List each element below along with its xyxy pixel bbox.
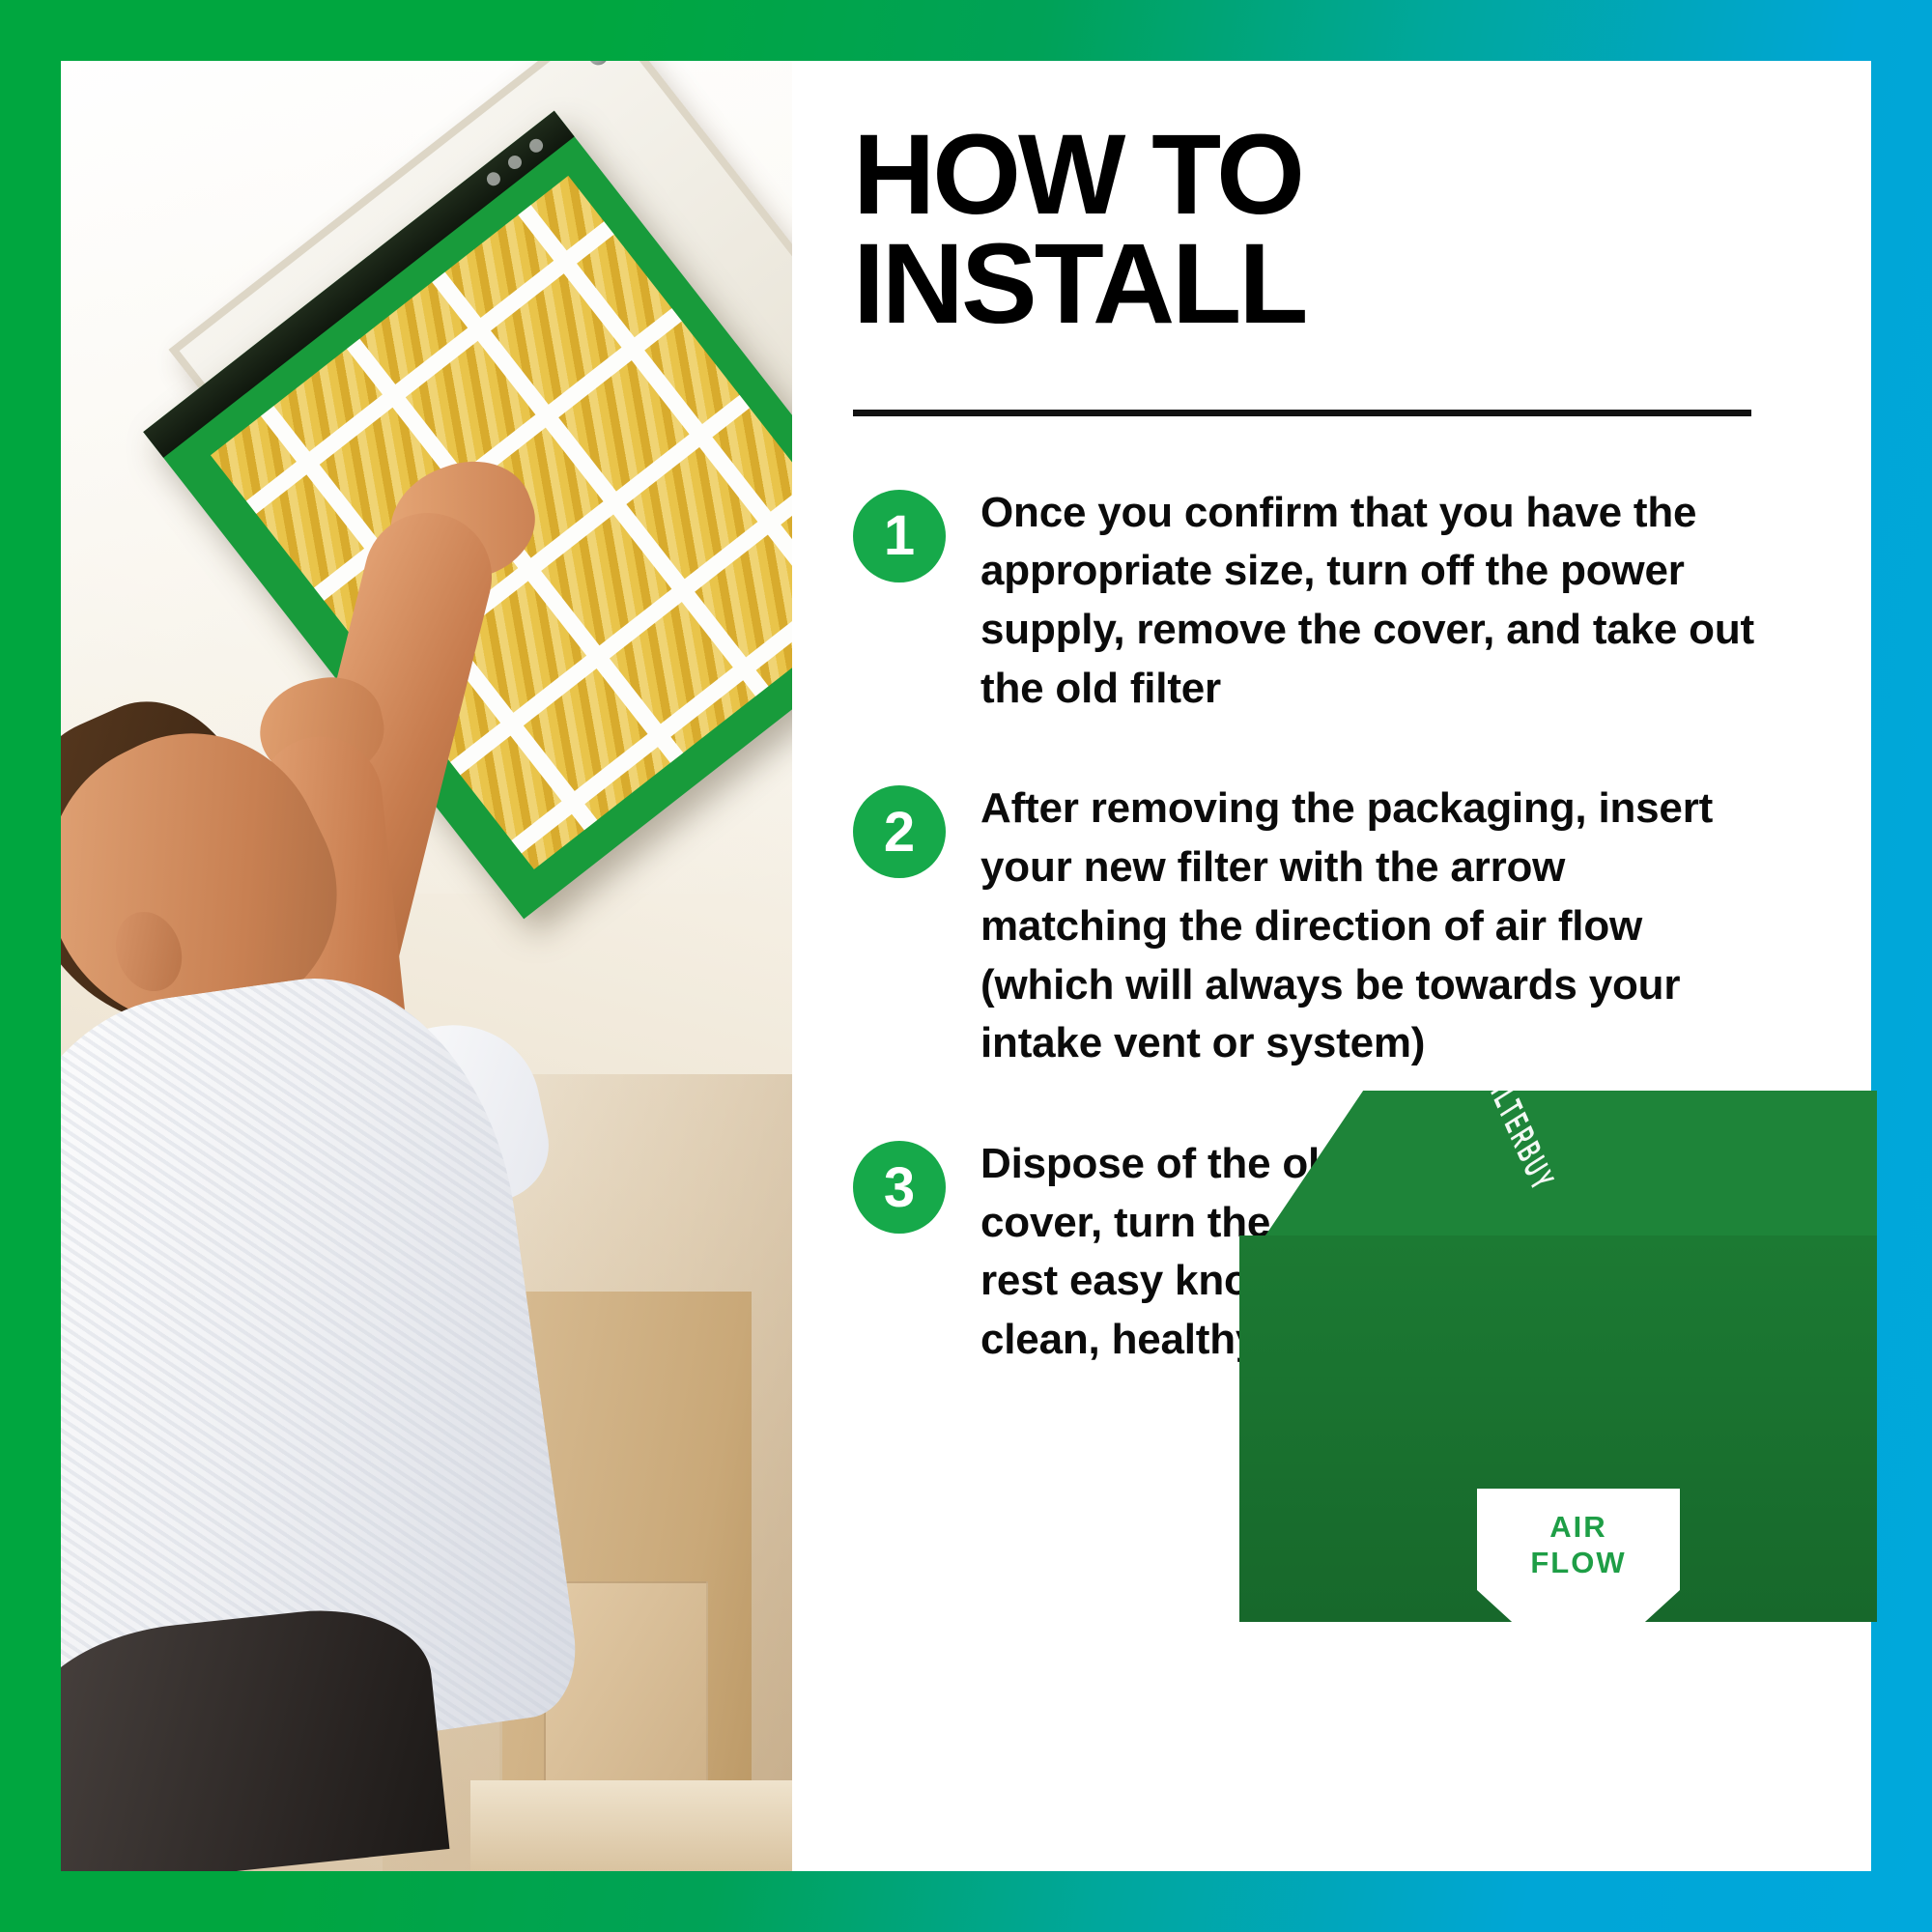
step-text-1: Once you confirm that you have the appro… (980, 484, 1763, 719)
step-item-1: 1 Once you confirm that you have the app… (853, 484, 1871, 719)
step-item-2: 2 After removing the packaging, insert y… (853, 780, 1871, 1073)
steps-list: 1 Once you confirm that you have the app… (853, 484, 1871, 1370)
title-divider (853, 410, 1751, 416)
content-column: HOW TO INSTALL 1 Once you confirm that y… (853, 61, 1871, 1871)
vent-screw-icon (584, 61, 611, 69)
step-text-3: Dispose of the old filter, replace the c… (980, 1135, 1763, 1370)
photo-baseboard (470, 1780, 792, 1871)
step-item-3: 3 Dispose of the old filter, replace the… (853, 1135, 1871, 1370)
poster-canvas: FILTERBUY (61, 61, 1871, 1871)
poster: FILTERBUY (0, 0, 1932, 1932)
installation-photo: FILTERBUY (61, 61, 792, 1871)
step-number-badge-1: 1 (853, 490, 946, 582)
step-number-badge-3: 3 (853, 1141, 946, 1234)
photo-person-pants (61, 1599, 449, 1871)
step-text-2: After removing the packaging, insert you… (980, 780, 1763, 1073)
page-title: HOW TO INSTALL (853, 121, 1871, 340)
step-number-badge-2: 2 (853, 785, 946, 878)
